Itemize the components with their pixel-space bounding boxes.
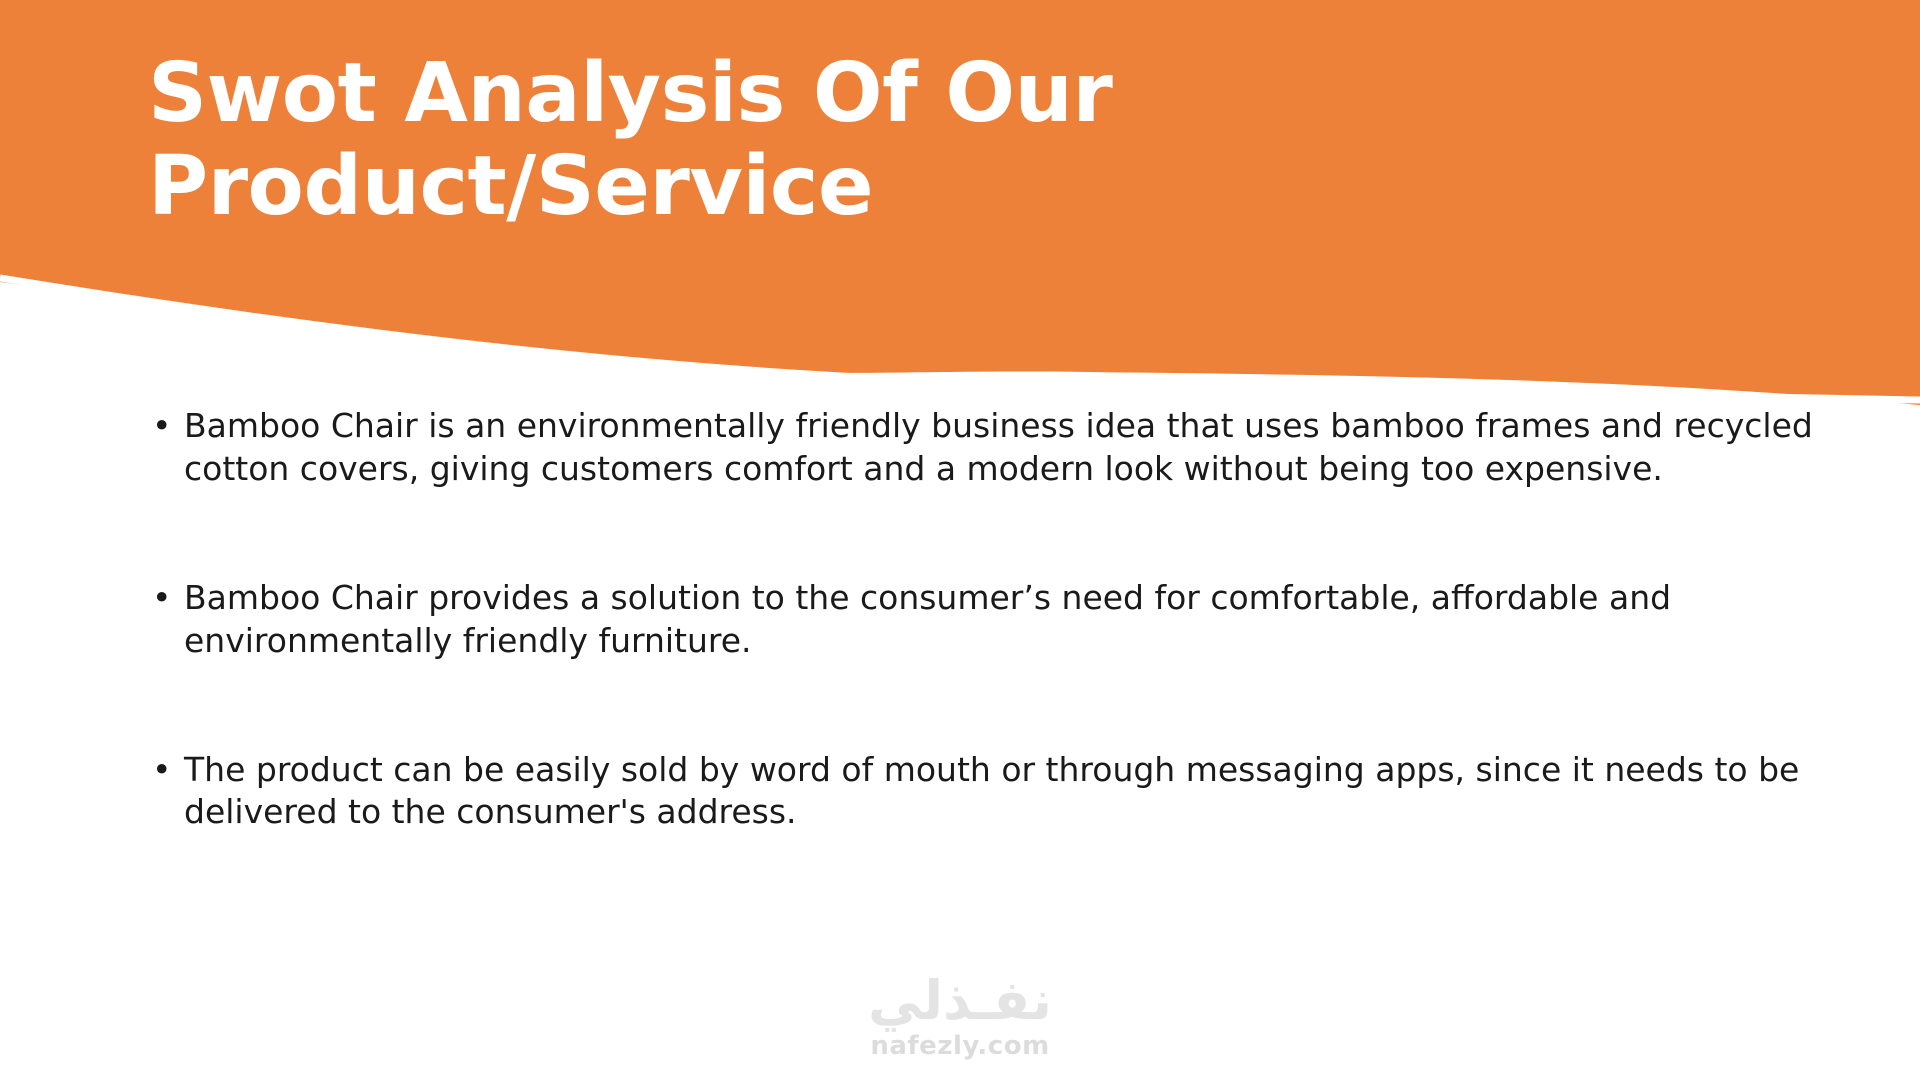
list-item: • Bamboo Chair is an environmentally fri… [150, 405, 1840, 491]
bullet-icon: • [152, 749, 171, 792]
bullet-icon: • [152, 577, 171, 620]
watermark-arabic-text: نفـذلي [0, 973, 1920, 1030]
body-content: • Bamboo Chair is an environmentally fri… [150, 405, 1840, 834]
bullet-list: • Bamboo Chair is an environmentally fri… [150, 405, 1840, 834]
list-item: • The product can be easily sold by word… [150, 749, 1840, 835]
list-item-text: The product can be easily sold by word o… [184, 749, 1840, 835]
watermark: نفـذلي nafezly.com [0, 973, 1920, 1062]
watermark-domain-text: nafezly.com [0, 1032, 1920, 1062]
bullet-icon: • [152, 405, 171, 448]
list-item: • Bamboo Chair provides a solution to th… [150, 577, 1840, 663]
list-item-text: Bamboo Chair provides a solution to the … [184, 577, 1840, 663]
list-item-text: Bamboo Chair is an environmentally frien… [184, 405, 1840, 491]
page-title: Swot Analysis Of Our Product/Service [148, 48, 1328, 233]
presentation-slide: Swot Analysis Of Our Product/Service • B… [0, 0, 1920, 1080]
title-block: Swot Analysis Of Our Product/Service [148, 48, 1328, 233]
